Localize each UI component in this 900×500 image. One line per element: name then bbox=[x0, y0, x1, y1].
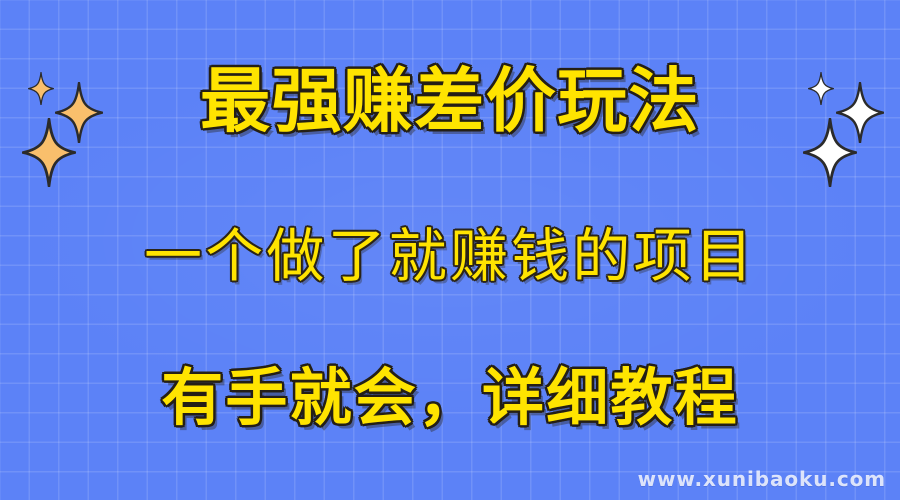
sparkle-right-medium bbox=[836, 82, 884, 143]
sparkle-right-small bbox=[808, 72, 834, 105]
headline-stack: 最强赚差价玩法 一个做了就赚钱的项目 有手就会，详细教程 bbox=[0, 0, 900, 500]
headline-line-3: 有手就会，详细教程 bbox=[0, 368, 900, 430]
site-watermark: www.xunibaoku.com bbox=[638, 467, 886, 491]
background-glow-overlay bbox=[0, 0, 900, 500]
promo-banner: 最强赚差价玩法 一个做了就赚钱的项目 有手就会，详细教程 www.xunibao… bbox=[0, 0, 900, 500]
sparkle-left-medium bbox=[55, 82, 103, 143]
sparkle-right-large bbox=[803, 118, 857, 187]
headline-line-2: 一个做了就赚钱的项目 bbox=[0, 228, 900, 286]
grid-background bbox=[0, 0, 900, 500]
sparkle-left-large bbox=[22, 118, 76, 187]
sparkle-left-small bbox=[28, 72, 54, 105]
headline-line-1: 最强赚差价玩法 bbox=[0, 66, 900, 136]
